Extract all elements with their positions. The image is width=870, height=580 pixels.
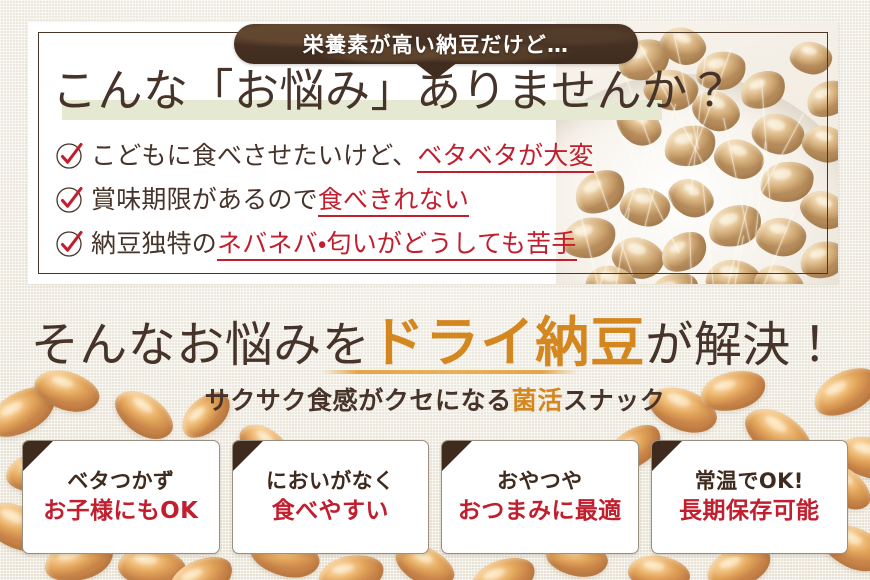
solution-product-name: ドライ納豆 [370, 311, 645, 374]
feature-card[interactable]: 常温でOK!長期保存可能 [651, 440, 849, 554]
check-circle-icon [56, 187, 82, 213]
problem-text-emphasis: ベタベタが大変 [417, 141, 593, 173]
problem-text-plain: 納豆独特の [91, 229, 217, 258]
card-corner-triangle-icon [442, 441, 472, 471]
problem-list-item: 賞味期限があるので食べきれない [56, 178, 656, 222]
subtitle-suffix: スナック [563, 386, 665, 415]
problem-text-plain: 賞味期限があるので [91, 185, 318, 214]
solution-underline [322, 370, 578, 374]
feature-card-line2: お子様にもOK [43, 496, 198, 527]
page-title: こんな「お悩み」ありませんか？ [52, 60, 672, 122]
badge-pointer-icon [414, 62, 458, 79]
problem-list-item: こどもに食べさせたいけど、ベタベタが大変 [56, 134, 656, 178]
card-corner-triangle-icon [652, 441, 682, 471]
problem-text-plain: こどもに食べさせたいけど、 [91, 141, 417, 170]
problem-list-item: 納豆独特のネバネバ・匂いがどうしても苦手 [56, 222, 656, 266]
card-corner-triangle-icon [233, 441, 263, 471]
problem-list: こどもに食べさせたいけど、ベタベタが大変賞味期限があるので食べきれない納豆独特の… [56, 134, 656, 266]
check-circle-icon [56, 231, 82, 257]
subtitle-prefix: サクサク食感がクセになる [205, 386, 512, 415]
feature-card-line2: 食べやすい [272, 496, 389, 527]
feature-card[interactable]: おやつやおつまみに最適 [441, 440, 639, 554]
solution-prefix: そんなお悩みを [31, 317, 371, 373]
nutrition-badge-label: 栄養素が高い納豆だけど… [303, 29, 569, 59]
feature-card[interactable]: ベタつかずお子様にもOK [22, 440, 220, 554]
problem-text-emphasis: 食べきれない [318, 185, 469, 217]
landing-page-stage: 栄養素が高い納豆だけど… こんな「お悩み」ありませんか？ こどもに食べさせたいけ… [0, 0, 870, 580]
problem-text: 納豆独特のネバネバ・匂いがどうしても苦手 [91, 229, 577, 259]
feature-card[interactable]: においがなく食べやすい [232, 440, 430, 554]
feature-card-line2: おつまみに最適 [458, 496, 622, 527]
problem-text: 賞味期限があるので食べきれない [91, 185, 469, 215]
nutrition-badge: 栄養素が高い納豆だけど… [234, 24, 638, 64]
feature-card-line2: 長期保存可能 [679, 496, 819, 527]
feature-card-line1: ベタつかず [67, 467, 174, 496]
subtitle-highlight: 菌活 [512, 386, 563, 415]
headline-block: こんな「お悩み」ありませんか？ [52, 60, 672, 122]
solution-subtitle: サクサク食感がクセになる菌活スナック [0, 384, 870, 418]
solution-suffix: が解決！ [645, 317, 839, 373]
natto-bean [787, 38, 835, 78]
check-circle-icon [56, 143, 82, 169]
solution-headline: そんなお悩みをドライ納豆が解決！ [0, 312, 870, 376]
feature-card-line1: おやつや [497, 467, 583, 496]
feature-card-line1: においがなく [266, 467, 394, 496]
feature-card-line1: 常温でOK! [695, 467, 804, 496]
feature-card-list: ベタつかずお子様にもOKにおいがなく食べやすいおやつやおつまみに最適常温でOK!… [22, 440, 848, 554]
problem-text-emphasis: ネバネバ・匂いがどうしても苦手 [217, 229, 577, 261]
card-corner-triangle-icon [23, 441, 53, 471]
problem-text: こどもに食べさせたいけど、ベタベタが大変 [91, 141, 594, 171]
